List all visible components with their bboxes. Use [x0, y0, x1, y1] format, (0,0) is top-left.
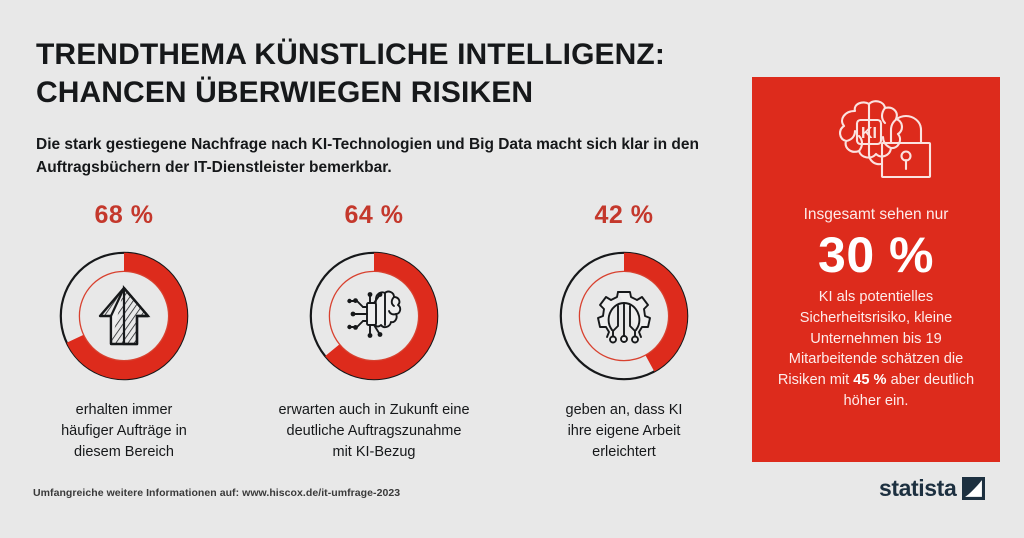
source-note: Umfangreiche weitere Informationen auf: …: [33, 487, 400, 499]
stat-percent-2: 64 %: [259, 198, 489, 232]
stat-caption-3-line-2: ihre eigene Arbeit: [509, 421, 739, 442]
panel-big-value: 30 %: [752, 227, 1000, 283]
up-arrow-icon: [57, 249, 191, 383]
ki-badge-label: KI: [861, 125, 877, 142]
statista-logo-mark: [962, 477, 985, 500]
headline-line-1: TRENDTHEMA KÜNSTLICHE INTELLIGENZ:: [36, 36, 736, 74]
stat-block-2: 64 %: [259, 198, 489, 463]
stat-caption-1-line-3: diesem Bereich: [9, 442, 239, 463]
panel-body-highlight: 45 %: [853, 372, 886, 388]
infographic-canvas: TRENDTHEMA KÜNSTLICHE INTELLIGENZ: CHANC…: [0, 0, 1024, 538]
stat-caption-2: erwarten auch in Zukunft eine deutliche …: [259, 400, 489, 463]
gear-circuit-icon: [557, 249, 691, 383]
statista-logo-text: statista: [879, 477, 956, 500]
stats-row: 68 %: [0, 198, 740, 458]
headline-line-2: CHANCEN ÜBERWIEGEN RISIKEN: [36, 74, 736, 112]
highlight-panel: KI Insgesamt sehen nur 30 % KI als poten…: [752, 77, 1000, 462]
stat-caption-3: geben an, dass KI ihre eigene Arbeit erl…: [509, 400, 739, 463]
stat-block-1: 68 %: [9, 198, 239, 463]
stat-percent-1: 68 %: [9, 198, 239, 232]
brain-ki-lock-icon: KI: [811, 99, 941, 191]
ai-brain-circuit-icon: [307, 249, 441, 383]
stat-caption-1-line-2: häufiger Aufträge in: [9, 421, 239, 442]
stat-caption-1: erhalten immer häufiger Aufträge in dies…: [9, 400, 239, 463]
stat-caption-2-line-3: mit KI-Bezug: [259, 442, 489, 463]
page-title: TRENDTHEMA KÜNSTLICHE INTELLIGENZ: CHANC…: [36, 36, 736, 111]
stat-percent-3: 42 %: [509, 198, 739, 232]
stat-caption-2-line-2: deutliche Auftragszunahme: [259, 421, 489, 442]
donut-chart-1: [57, 249, 191, 383]
subtitle-text: Die stark gestiegene Nachfrage nach KI-T…: [36, 133, 711, 180]
statista-logo: statista: [879, 477, 985, 500]
stat-caption-1-line-1: erhalten immer: [9, 400, 239, 421]
stat-caption-3-line-1: geben an, dass KI: [509, 400, 739, 421]
donut-chart-2: [307, 249, 441, 383]
stat-caption-2-line-1: erwarten auch in Zukunft eine: [259, 400, 489, 421]
donut-chart-3: [557, 249, 691, 383]
panel-body-text: KI als potentielles Sicherheitsrisiko, k…: [770, 287, 982, 411]
panel-lead-text: Insgesamt sehen nur: [752, 205, 1000, 225]
stat-block-3: 42 %: [509, 198, 739, 463]
stat-caption-3-line-3: erleichtert: [509, 442, 739, 463]
